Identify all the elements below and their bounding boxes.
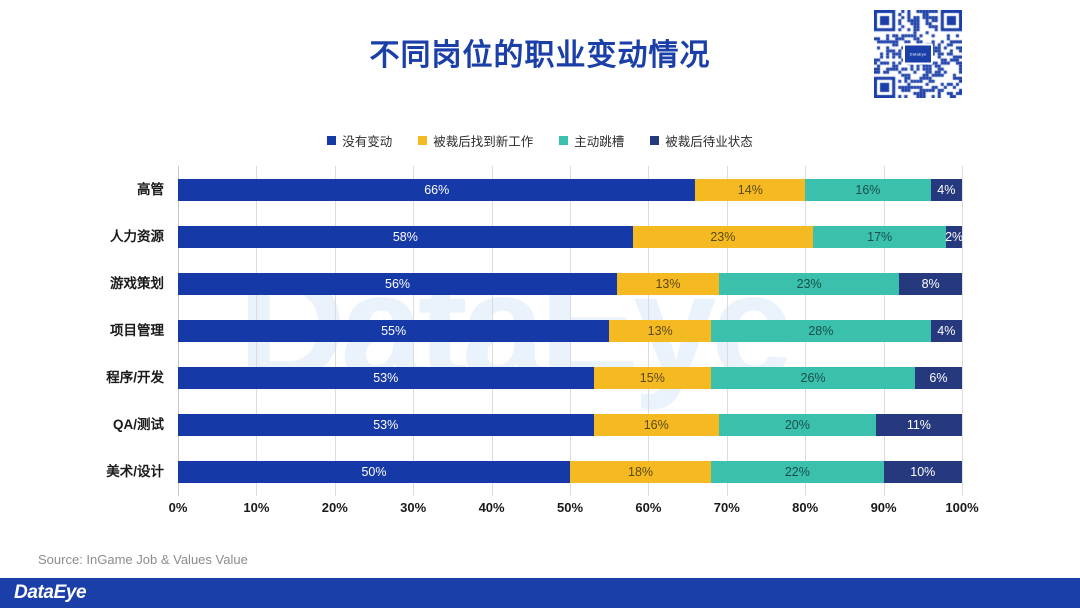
chart-area: 高管人力资源游戏策划项目管理程序/开发QA/测试美术/设计 DataEye 66… [0,160,1080,535]
plot-region: DataEye 66%14%16%4%58%23%17%2%56%13%23%8… [178,166,962,496]
x-axis-tick-label: 100% [945,500,978,515]
y-axis-label: 游戏策划 [4,273,164,295]
legend-label: 被裁后找到新工作 [433,131,533,150]
legend-label: 被裁后待业状态 [665,131,753,150]
bar-segment[interactable]: 13% [617,273,719,295]
gridline [962,166,963,496]
bar-segment[interactable]: 16% [594,414,719,436]
legend-swatch-icon [650,136,659,145]
bar-segment[interactable]: 66% [178,179,695,201]
x-axis-tick-label: 20% [322,500,348,515]
bar-segment[interactable]: 17% [813,226,946,248]
x-axis-tick-label: 90% [871,500,897,515]
bar-segment[interactable]: 55% [178,320,609,342]
y-axis-labels: 高管人力资源游戏策划项目管理程序/开发QA/测试美术/设计 [0,166,178,496]
brand-logo: DataEye [14,582,86,604]
bar-segment[interactable]: 2% [946,226,962,248]
x-axis-ticks: 0%10%20%30%40%50%60%70%80%90%100% [178,500,962,522]
bar-segment[interactable]: 8% [899,273,962,295]
bar-segment[interactable]: 6% [915,367,962,389]
legend-item-0[interactable]: 没有变动 [327,131,392,150]
qr-center-logo: DataEye [903,44,933,65]
x-axis-tick-label: 30% [400,500,426,515]
bar-segment[interactable]: 16% [805,179,930,201]
legend-item-1[interactable]: 被裁后找到新工作 [418,131,533,150]
bar-row[interactable]: 56%13%23%8% [178,273,962,295]
qr-code-icon[interactable]: DataEye [874,10,962,98]
legend-label: 主动跳槽 [574,131,624,150]
bar-row[interactable]: 55%13%28%4% [178,320,962,342]
bar-segment[interactable]: 20% [719,414,876,436]
bar-segment[interactable]: 58% [178,226,633,248]
x-axis-tick-label: 60% [635,500,661,515]
legend-item-2[interactable]: 主动跳槽 [559,131,624,150]
chart-legend: 没有变动被裁后找到新工作主动跳槽被裁后待业状态 [0,131,1080,150]
bar-segment[interactable]: 10% [884,461,962,483]
bar-segment[interactable]: 53% [178,414,594,436]
bar-row[interactable]: 58%23%17%2% [178,226,962,248]
bar-segment[interactable]: 13% [609,320,711,342]
bar-segment[interactable]: 23% [633,226,813,248]
bar-row[interactable]: 50%18%22%10% [178,461,962,483]
bar-segment[interactable]: 22% [711,461,883,483]
legend-swatch-icon [418,136,427,145]
x-axis-tick-label: 70% [714,500,740,515]
bar-segment[interactable]: 56% [178,273,617,295]
bar-segment[interactable]: 4% [931,179,962,201]
bar-segment[interactable]: 53% [178,367,594,389]
source-note: Source: InGame Job & Values Value [38,552,248,567]
x-axis-tick-label: 50% [557,500,583,515]
x-axis-tick-label: 10% [243,500,269,515]
bar-row[interactable]: 53%15%26%6% [178,367,962,389]
x-axis-tick-label: 0% [169,500,188,515]
bar-segment[interactable]: 4% [931,320,962,342]
legend-swatch-icon [327,136,336,145]
y-axis-label: 项目管理 [4,320,164,342]
bar-segment[interactable]: 18% [570,461,711,483]
y-axis-label: 人力资源 [4,226,164,248]
x-axis-tick-label: 80% [792,500,818,515]
x-axis-tick-label: 40% [479,500,505,515]
bar-row[interactable]: 53%16%20%11% [178,414,962,436]
bar-segment[interactable]: 15% [594,367,712,389]
y-axis-label: 程序/开发 [4,367,164,389]
legend-item-3[interactable]: 被裁后待业状态 [650,131,753,150]
bar-row[interactable]: 66%14%16%4% [178,179,962,201]
bar-segment[interactable]: 14% [695,179,805,201]
legend-swatch-icon [559,136,568,145]
bar-segment[interactable]: 26% [711,367,915,389]
y-axis-label: 美术/设计 [4,461,164,483]
y-axis-label: QA/测试 [4,414,164,436]
legend-label: 没有变动 [342,131,392,150]
y-axis-label: 高管 [4,179,164,201]
footer-bar: DataEye [0,578,1080,608]
bar-segment[interactable]: 23% [719,273,899,295]
bar-segment[interactable]: 11% [876,414,962,436]
bar-segment[interactable]: 28% [711,320,931,342]
bar-segment[interactable]: 50% [178,461,570,483]
